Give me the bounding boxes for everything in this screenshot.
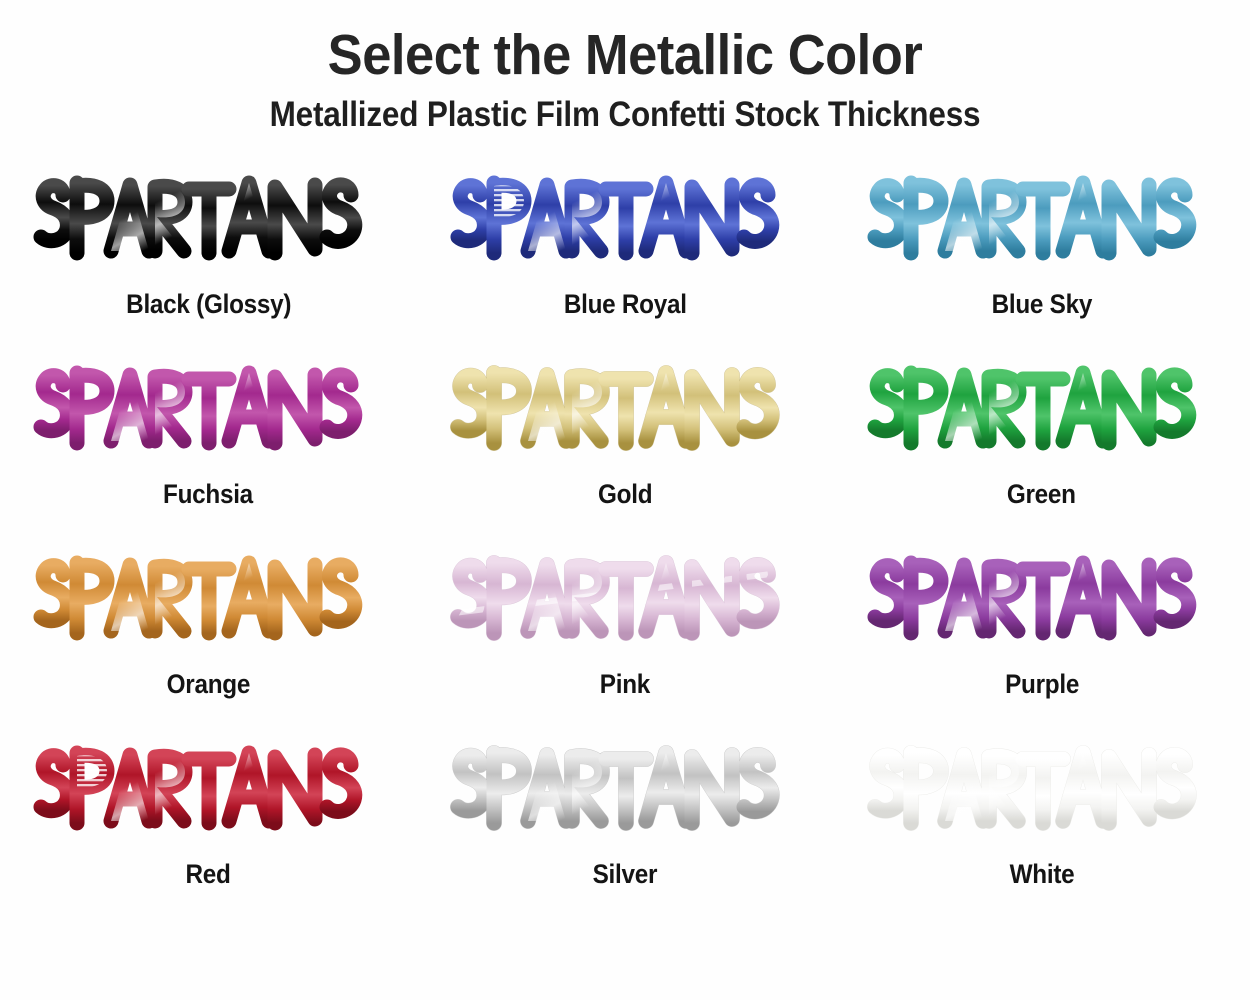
wordart-preview-white[interactable] [867, 739, 1217, 843]
wordart-preview-blue-sky[interactable] [867, 169, 1217, 273]
color-swatch-label: Black (Glossy) [126, 289, 291, 320]
color-swatch-label: Blue Sky [991, 289, 1091, 320]
color-swatch-label: Orange [167, 669, 250, 700]
wordart-green [867, 359, 1217, 463]
wordart-preview-red[interactable] [33, 739, 383, 843]
color-swatch-purple[interactable]: Purple [833, 549, 1250, 739]
wordart-preview-blue-royal[interactable] [450, 169, 800, 273]
color-swatch-label: White [1009, 859, 1074, 890]
color-swatch-blue-sky[interactable]: Blue Sky [833, 169, 1250, 359]
color-swatch-silver[interactable]: Silver [417, 739, 834, 929]
color-swatch-blue-royal[interactable]: Blue Royal [417, 169, 834, 359]
color-selection-page: Select the Metallic Color Metallized Pla… [0, 0, 1250, 1000]
color-swatch-label: Red [186, 859, 231, 890]
color-swatch-label: Gold [598, 479, 652, 510]
color-swatch-label: Green [1007, 479, 1076, 510]
wordart-silver [450, 739, 800, 843]
wordart-orange [33, 549, 383, 653]
wordart-preview-silver[interactable] [450, 739, 800, 843]
page-header: Select the Metallic Color Metallized Pla… [0, 0, 1250, 135]
wordart-blue-sky [867, 169, 1217, 273]
color-swatch-red[interactable]: Red [0, 739, 417, 929]
wordart-fuchsia [33, 359, 383, 463]
wordart-purple [867, 549, 1217, 653]
wordart-preview-black-glossy[interactable] [33, 169, 383, 273]
color-swatch-white[interactable]: White [833, 739, 1250, 929]
wordart-white [867, 739, 1217, 843]
color-swatch-gold[interactable]: Gold [417, 359, 834, 549]
wordart-preview-purple[interactable] [867, 549, 1217, 653]
wordart-black-glossy [33, 169, 383, 273]
page-title: Select the Metallic Color [50, 26, 1200, 85]
color-swatch-fuchsia[interactable]: Fuchsia [0, 359, 417, 549]
wordart-gold [450, 359, 800, 463]
color-swatch-label: Purple [1005, 669, 1079, 700]
color-swatch-grid: Black (Glossy)Blue RoyalBlue SkyFuchsiaG… [0, 169, 1250, 929]
wordart-pink [450, 549, 800, 653]
wordart-preview-gold[interactable] [450, 359, 800, 463]
color-swatch-label: Pink [600, 669, 650, 700]
color-swatch-pink[interactable]: Pink [417, 549, 834, 739]
color-swatch-orange[interactable]: Orange [0, 549, 417, 739]
wordart-preview-orange[interactable] [33, 549, 383, 653]
color-swatch-green[interactable]: Green [833, 359, 1250, 549]
color-swatch-label: Blue Royal [564, 289, 687, 320]
wordart-preview-green[interactable] [867, 359, 1217, 463]
color-swatch-label: Fuchsia [163, 479, 253, 510]
wordart-preview-fuchsia[interactable] [33, 359, 383, 463]
wordart-preview-pink[interactable] [450, 549, 800, 653]
color-swatch-black-glossy[interactable]: Black (Glossy) [0, 169, 417, 359]
wordart-blue-royal [450, 169, 800, 273]
color-swatch-label: Silver [593, 859, 658, 890]
wordart-red [33, 739, 383, 843]
page-subtitle: Metallized Plastic Film Confetti Stock T… [63, 95, 1188, 135]
